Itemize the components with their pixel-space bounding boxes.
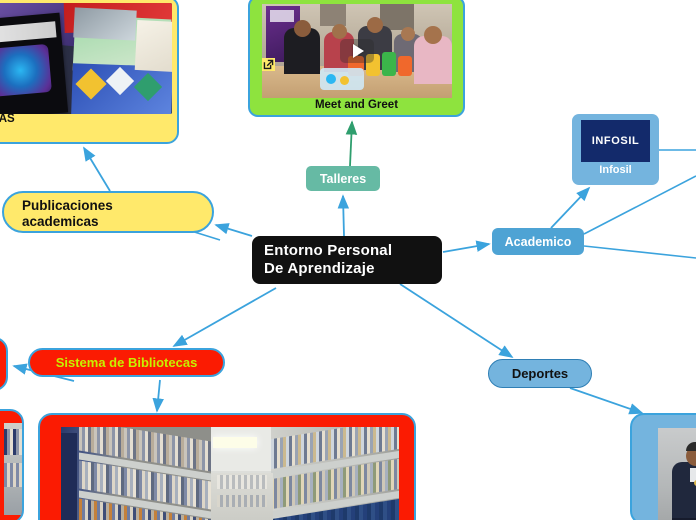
mind-map-canvas[interactable]: INES REVISTAS IFICAS bbox=[0, 0, 696, 520]
revistas-photo bbox=[0, 3, 172, 114]
deportes-photo-card[interactable] bbox=[630, 413, 696, 520]
revistas-caption: INES REVISTAS IFICAS bbox=[0, 112, 174, 140]
left-clipped-card-bottom[interactable] bbox=[0, 409, 24, 520]
infosil-logo: INFOSIL bbox=[581, 120, 650, 162]
central-node-line2: De Aprendizaje bbox=[264, 260, 442, 278]
library-photo bbox=[61, 427, 399, 520]
node-talleres[interactable]: Talleres bbox=[306, 166, 380, 191]
left-clipped-card-top[interactable] bbox=[0, 337, 8, 391]
publicaciones-line1: Publicaciones bbox=[22, 198, 212, 214]
central-node[interactable]: Entorno Personal De Aprendizaje bbox=[252, 236, 442, 284]
play-icon[interactable] bbox=[340, 39, 374, 63]
infosil-card[interactable]: INFOSIL Infosil bbox=[572, 114, 659, 185]
node-sistema-de-bibliotecas[interactable]: Sistema de Bibliotecas bbox=[28, 348, 225, 377]
deportes-photo bbox=[658, 428, 696, 520]
node-academico[interactable]: Academico bbox=[492, 228, 584, 255]
revistas-caption-line2: IFICAS bbox=[0, 126, 174, 140]
external-link-icon[interactable] bbox=[262, 58, 275, 71]
meet-and-greet-photo bbox=[262, 4, 452, 98]
meet-and-greet-video-card[interactable]: Meet and Greet bbox=[248, 0, 465, 117]
meet-and-greet-caption: Meet and Greet bbox=[250, 99, 463, 111]
central-node-line1: Entorno Personal bbox=[264, 242, 442, 260]
infosil-caption: Infosil bbox=[572, 164, 659, 176]
revistas-caption-line1: INES REVISTAS bbox=[0, 112, 174, 126]
library-photo-card[interactable] bbox=[38, 413, 416, 520]
node-publicaciones-academicas[interactable]: Publicaciones academicas bbox=[2, 191, 214, 233]
revistas-cientificas-card[interactable]: INES REVISTAS IFICAS bbox=[0, 0, 179, 144]
publicaciones-line2: academicas bbox=[22, 214, 212, 230]
node-deportes[interactable]: Deportes bbox=[488, 359, 592, 388]
